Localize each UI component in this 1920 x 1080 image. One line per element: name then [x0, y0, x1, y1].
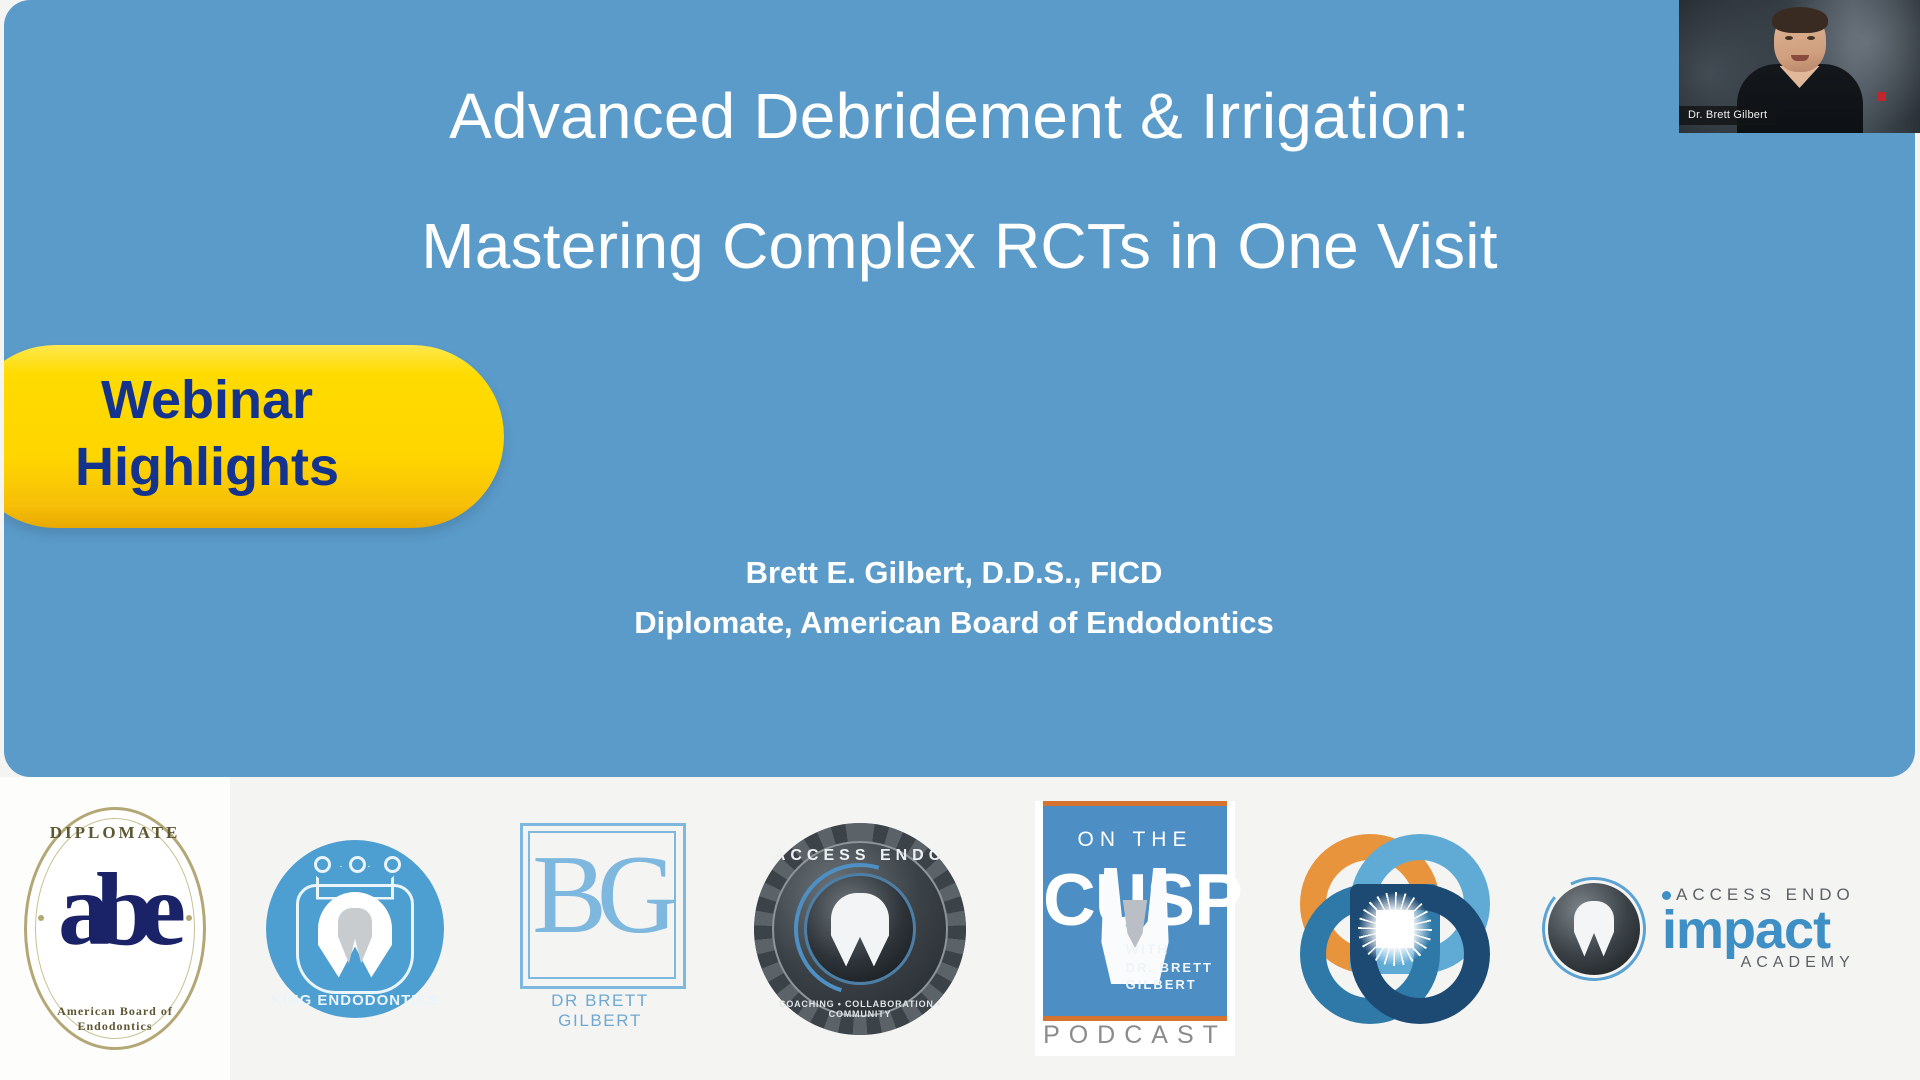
- ae-top-text: ACCESS ENDO: [754, 847, 966, 865]
- speaker-eye-left: [1785, 36, 1793, 40]
- crown-ball-left-icon: [314, 856, 331, 873]
- sponsor-logo-strip: DIPLOMATE abe American Board of Endodont…: [0, 777, 1920, 1080]
- webcam-name-label: Dr. Brett Gilbert: [1679, 106, 1776, 125]
- badge-line-1: Webinar: [22, 367, 392, 434]
- bg-monogram-letters: BG: [512, 839, 688, 951]
- impact-main-text: impact: [1662, 903, 1855, 958]
- speaker-head: [1774, 10, 1826, 72]
- king-endodontics-label: KING ENDODONTICS: [266, 992, 444, 1009]
- speaker-hair: [1772, 7, 1828, 33]
- impact-tooth-badge: [1542, 877, 1646, 981]
- access-endo-badge-icon: ACCESS ENDO COACHING • COLLABORATION • C…: [754, 823, 966, 1035]
- speaker-mouth: [1791, 55, 1809, 61]
- logo-king-endodontics: KING ENDODONTICS: [230, 777, 480, 1080]
- speaker-eye-right: [1807, 36, 1815, 40]
- slide-panel: Advanced Debridement & Irrigation: Maste…: [4, 0, 1915, 777]
- shirt-logo-icon: [1877, 92, 1886, 101]
- abe-dot-right-icon: [186, 915, 192, 921]
- speaker-credential: Diplomate, American Board of Endodontics: [404, 598, 1504, 648]
- cusp-with-line-3: GILBERT: [1126, 976, 1213, 994]
- cusp-eyebrow: ON THE: [1043, 828, 1227, 852]
- king-endodontics-icon: KING ENDODONTICS: [266, 840, 444, 1018]
- speaker-name: Brett E. Gilbert, D.D.S., FICD: [404, 548, 1504, 598]
- page-title: Advanced Debridement & Irrigation: Maste…: [4, 84, 1915, 278]
- webinar-highlights-label: Webinar Highlights: [22, 367, 392, 501]
- on-the-cusp-icon: ON THE CUSP WITH DR. BRETT GILBERT PODCA…: [1035, 801, 1235, 1056]
- bg-monogram-icon: BG DR BRETT GILBERT: [512, 823, 688, 1035]
- crown-ball-center-icon: [349, 856, 366, 873]
- speaker-credits: Brett E. Gilbert, D.D.S., FICD Diplomate…: [404, 548, 1504, 648]
- cusp-footer-label: PODCAST: [1035, 1021, 1235, 1050]
- impact-wordmark: ACCESS ENDO impact ACADEMY: [1662, 885, 1855, 972]
- title-line-1: Advanced Debridement & Irrigation:: [4, 84, 1915, 148]
- abe-top-text: DIPLOMATE: [24, 823, 206, 843]
- title-line-2: Mastering Complex RCTs in One Visit: [4, 214, 1915, 278]
- crown-ball-right-icon: [384, 856, 401, 873]
- badge-line-2: Highlights: [22, 434, 392, 501]
- burst-spark-icon: [1358, 892, 1432, 966]
- cusp-with-line-2: DR. BRETT: [1126, 959, 1213, 977]
- impact-academy-icon: ACCESS ENDO impact ACADEMY: [1542, 864, 1898, 994]
- abe-monogram: abe: [24, 865, 206, 954]
- logo-access-endo: ACCESS ENDO COACHING • COLLABORATION • C…: [720, 777, 1000, 1080]
- impact-dot-icon: [1662, 891, 1671, 900]
- abe-dot-left-icon: [38, 915, 44, 921]
- logo-american-board-endodontics: DIPLOMATE abe American Board of Endodont…: [0, 777, 230, 1080]
- logo-four-loop-mark: [1270, 777, 1520, 1080]
- cusp-with-line-1: WITH: [1126, 940, 1213, 959]
- abe-bottom-text: American Board of Endodontics: [24, 1004, 206, 1034]
- ae-bottom-text: COACHING • COLLABORATION • COMMUNITY: [754, 999, 966, 1019]
- logo-access-endo-impact-academy: ACCESS ENDO impact ACADEMY: [1520, 777, 1920, 1080]
- cusp-card: ON THE CUSP WITH DR. BRETT GILBERT: [1043, 801, 1227, 1021]
- logo-on-the-cusp-podcast: ON THE CUSP WITH DR. BRETT GILBERT PODCA…: [1000, 777, 1270, 1080]
- webinar-highlights-badge: Webinar Highlights: [4, 345, 504, 528]
- abe-seal-icon: DIPLOMATE abe American Board of Endodont…: [24, 807, 206, 1050]
- webcam-pip[interactable]: Dr. Brett Gilbert: [1679, 0, 1920, 133]
- cusp-host-credit: WITH DR. BRETT GILBERT: [1126, 940, 1213, 994]
- logo-dr-brett-gilbert: BG DR BRETT GILBERT: [480, 777, 720, 1080]
- bg-caption: DR BRETT GILBERT: [512, 991, 688, 1031]
- four-loop-burst-icon: [1300, 834, 1490, 1024]
